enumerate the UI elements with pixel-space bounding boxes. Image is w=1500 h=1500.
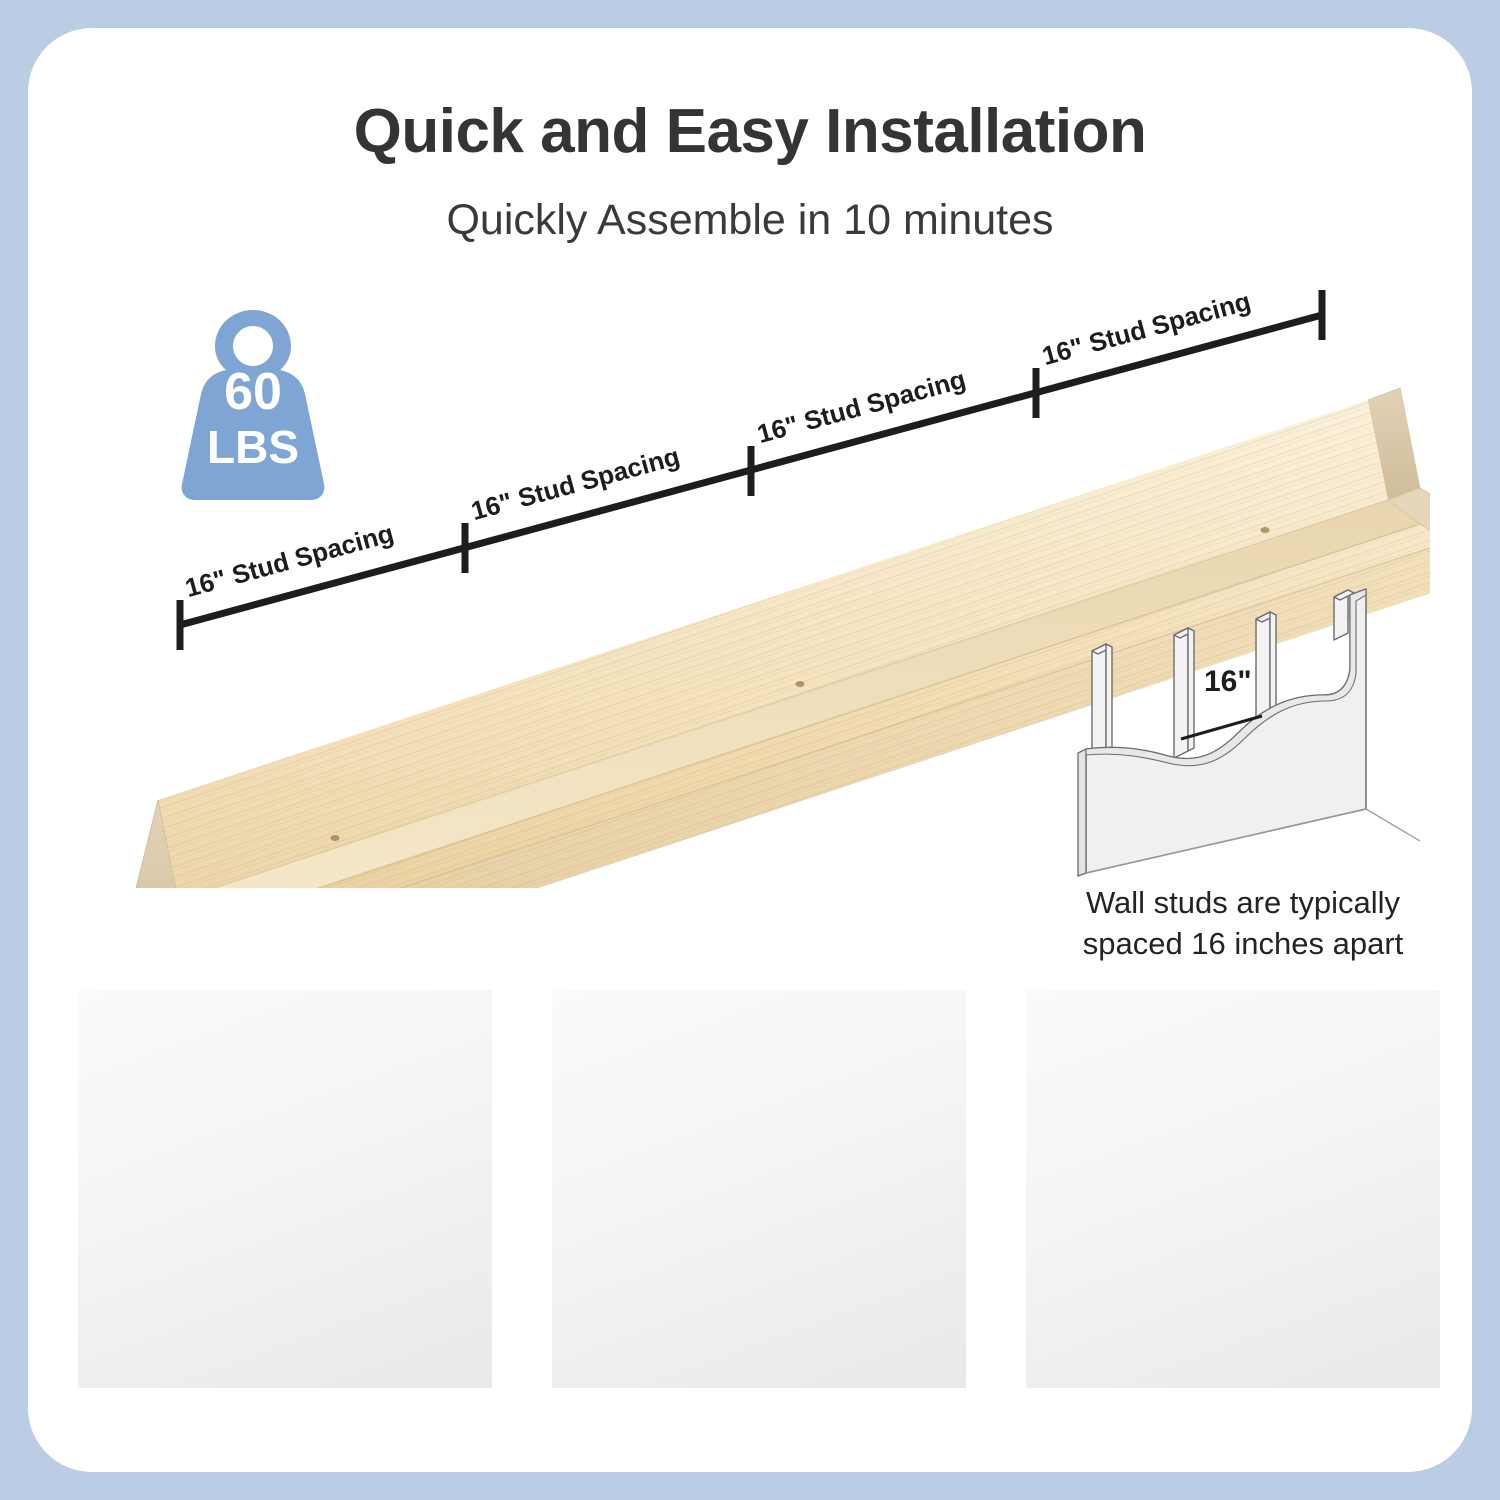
wall-background xyxy=(552,990,966,1388)
stud-caption-line-1: Wall studs are typically xyxy=(1013,883,1472,924)
page-subtitle: Quickly Assemble in 10 minutes xyxy=(28,196,1472,245)
stud-measure-label: 16" xyxy=(1204,665,1252,698)
stud-diagram-caption: Wall studs are typically spaced 16 inche… xyxy=(1013,883,1472,965)
content-card: Quick and Easy Installation Quickly Asse… xyxy=(28,28,1472,1472)
infographic-canvas: Quick and Easy Installation Quickly Asse… xyxy=(0,0,1500,1500)
wall-studs-illustration: 16" xyxy=(1048,573,1438,883)
page-title: Quick and Easy Installation xyxy=(28,96,1472,167)
kettlebell-weight-icon xyxy=(174,304,332,504)
step-photo-drill-pilot-holes[interactable]: BOSCH Professional GSR 120-LI 1 xyxy=(552,990,966,1388)
installation-steps-gallery: BOSCH Professional GSR 120-LI 1 xyxy=(78,990,1442,1388)
weight-capacity-badge: 60 LBS xyxy=(174,304,332,504)
wall-background xyxy=(1026,990,1440,1388)
wall-studs-diagram: 16" xyxy=(1048,573,1438,883)
wall-background xyxy=(78,990,492,1388)
step-photo-fasten-screws[interactable] xyxy=(1026,990,1440,1388)
step-photo-mark-drill-holes[interactable] xyxy=(78,990,492,1388)
stud-caption-line-2: spaced 16 inches apart xyxy=(1013,924,1472,965)
